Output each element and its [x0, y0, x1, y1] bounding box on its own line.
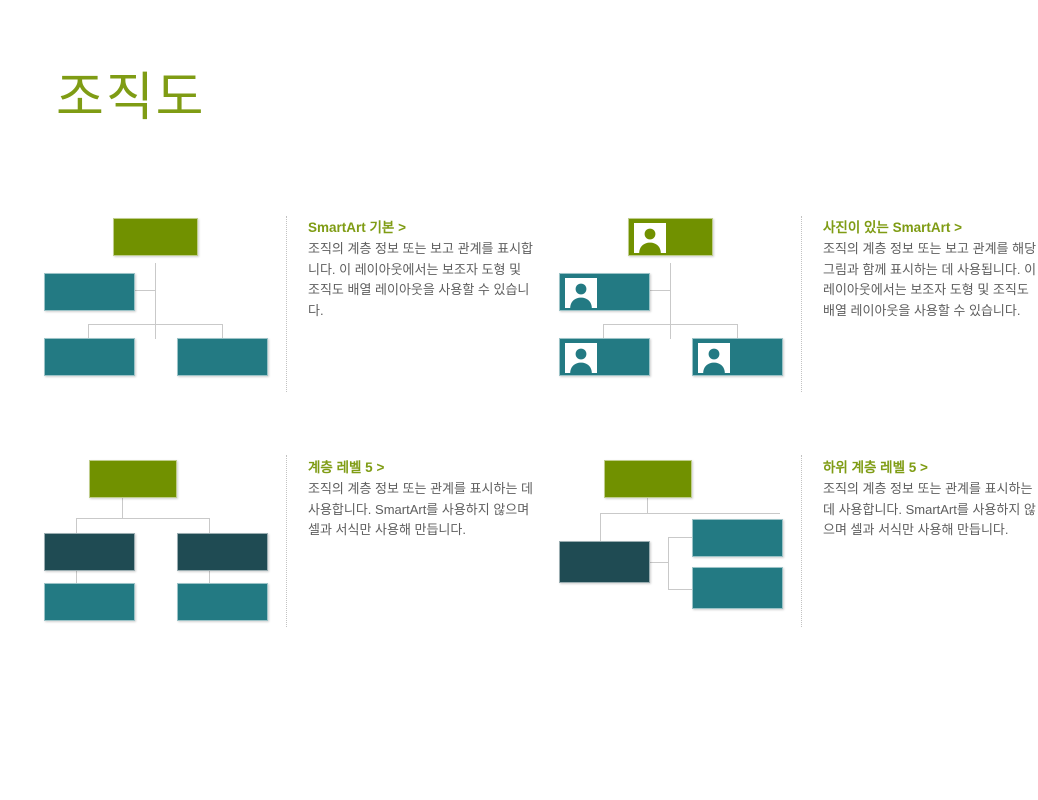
connector-line	[155, 263, 156, 339]
hierarchy-node-level2-left[interactable]	[44, 533, 135, 571]
card-heading[interactable]: 사진이 있는 SmartArt >	[823, 218, 1038, 237]
hierarchy-node-level2-right[interactable]	[177, 533, 268, 571]
connector-line	[668, 537, 669, 589]
card-heading[interactable]: 하위 계층 레벨 5 >	[823, 458, 1038, 477]
connector-line	[670, 263, 671, 339]
connector-line	[88, 324, 89, 339]
layout-option-card[interactable]: 계층 레벨 5 > 조직의 계층 정보 또는 관계를 표시하는 데 사용합니다.…	[34, 450, 534, 635]
card-description: 조직의 계층 정보 또는 관계를 표시하는 데 사용합니다. SmartArt를…	[823, 479, 1038, 541]
org-node-child-1[interactable]	[559, 338, 650, 376]
connector-line	[668, 537, 692, 538]
card-text: 사진이 있는 SmartArt > 조직의 계층 정보 또는 보고 관계를 해당…	[799, 210, 1038, 321]
connector-line	[222, 324, 223, 339]
connector-line	[737, 324, 738, 339]
card-heading[interactable]: 계층 레벨 5 >	[308, 458, 534, 477]
org-chart-diagram-basic[interactable]	[34, 210, 284, 390]
card-text: 하위 계층 레벨 5 > 조직의 계층 정보 또는 관계를 표시하는 데 사용합…	[799, 450, 1038, 541]
hierarchy-diagram-branch[interactable]	[549, 450, 799, 630]
card-description: 조직의 계층 정보 또는 보고 관계를 표시합니다. 이 레이아웃에서는 보조자…	[308, 239, 534, 321]
connector-line	[88, 324, 222, 325]
hierarchy-node-top[interactable]	[89, 460, 177, 498]
person-silhouette-icon	[565, 278, 597, 308]
connector-line	[603, 324, 604, 339]
card-description: 조직의 계층 정보 또는 보고 관계를 해당 그림과 함께 표시하는 데 사용됩…	[823, 239, 1038, 321]
hierarchy-node-top[interactable]	[604, 460, 692, 498]
hierarchy-node-right-top[interactable]	[692, 519, 783, 557]
card-text: SmartArt 기본 > 조직의 계층 정보 또는 보고 관계를 표시합니다.…	[284, 210, 534, 321]
hierarchy-node-level3-left[interactable]	[44, 583, 135, 621]
connector-line	[603, 324, 737, 325]
person-silhouette-icon	[634, 223, 666, 253]
card-heading[interactable]: SmartArt 기본 >	[308, 218, 534, 237]
connector-line	[668, 589, 692, 590]
connector-line	[647, 498, 648, 513]
person-silhouette-icon	[565, 343, 597, 373]
hierarchy-node-right-bottom[interactable]	[692, 567, 783, 609]
connector-line	[650, 290, 671, 291]
card-text: 계층 레벨 5 > 조직의 계층 정보 또는 관계를 표시하는 데 사용합니다.…	[284, 450, 534, 541]
org-node-top[interactable]	[113, 218, 198, 256]
connector-line	[650, 562, 668, 563]
page-title: 조직도	[56, 68, 206, 128]
layout-option-card[interactable]: 사진이 있는 SmartArt > 조직의 계층 정보 또는 보고 관계를 해당…	[549, 210, 1038, 395]
connector-line	[76, 518, 209, 519]
org-node-child-2[interactable]	[692, 338, 783, 376]
org-node-assistant[interactable]	[559, 273, 650, 311]
org-chart-diagram-with-pictures[interactable]	[549, 210, 799, 390]
connector-line	[76, 518, 77, 534]
card-description: 조직의 계층 정보 또는 관계를 표시하는 데 사용합니다. SmartArt를…	[308, 479, 534, 541]
org-node-assistant[interactable]	[44, 273, 135, 311]
connector-line	[135, 290, 156, 291]
connector-line	[600, 513, 601, 541]
hierarchy-node-level3-right[interactable]	[177, 583, 268, 621]
org-node-child-1[interactable]	[44, 338, 135, 376]
org-node-child-2[interactable]	[177, 338, 268, 376]
hierarchy-diagram-symmetric[interactable]	[34, 450, 284, 630]
connector-line	[76, 570, 77, 584]
connector-line	[122, 498, 123, 518]
person-silhouette-icon	[698, 343, 730, 373]
hierarchy-node-left[interactable]	[559, 541, 650, 583]
connector-line	[209, 518, 210, 534]
layout-option-card[interactable]: SmartArt 기본 > 조직의 계층 정보 또는 보고 관계를 표시합니다.…	[34, 210, 534, 395]
org-node-top[interactable]	[628, 218, 713, 256]
connector-line	[600, 513, 780, 514]
layout-option-card[interactable]: 하위 계층 레벨 5 > 조직의 계층 정보 또는 관계를 표시하는 데 사용합…	[549, 450, 1038, 635]
connector-line	[209, 570, 210, 584]
